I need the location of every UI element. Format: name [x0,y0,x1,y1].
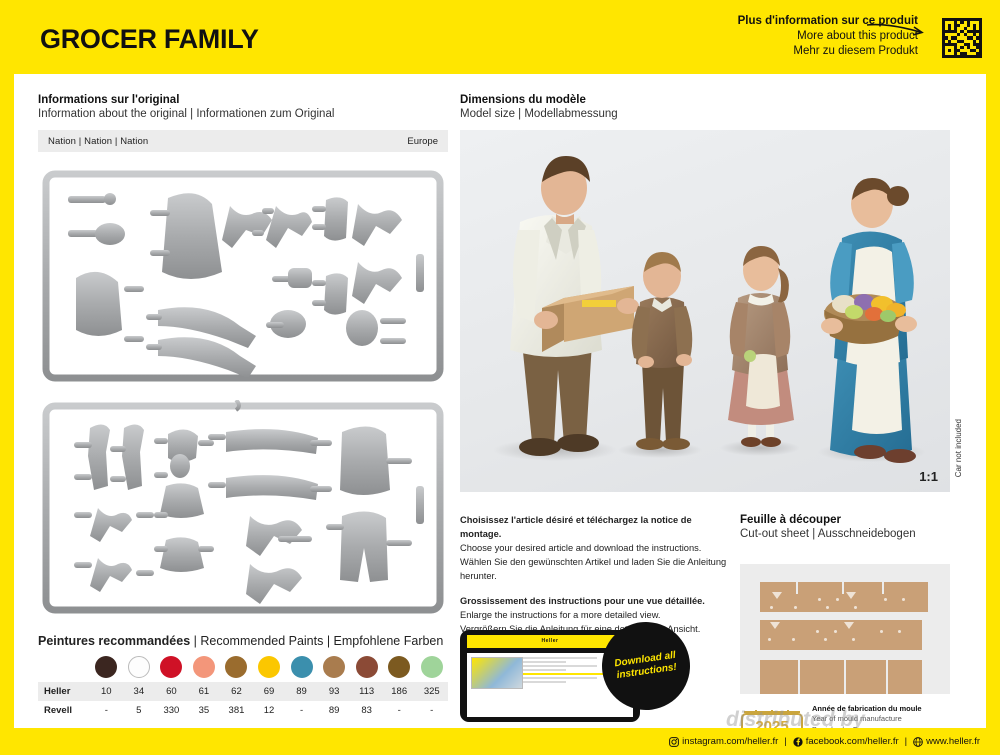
car-not-included-note: Car not included [954,419,963,477]
website-label: www.heller.fr [926,736,980,747]
paint-code-cell: 35 [188,705,221,716]
facebook-label: facebook.com/heller.fr [806,736,899,747]
paint-swatch [388,656,410,678]
paint-row-heller: Heller 1034606162698993113186325 [38,682,448,701]
paint-swatch [160,656,182,678]
cutout-heading-fr: Feuille à découper [740,514,916,526]
paint-code-cell: 69 [253,686,286,697]
mould-year-en: Year of mould manufacture [812,714,922,724]
original-info-heading-en-de: Information about the original | Informa… [38,108,334,120]
qr-line-de: Mehr zu diesem Produkt [738,44,918,59]
curved-arrow-icon [866,22,926,38]
paint-code-cell: 62 [220,686,253,697]
nation-value: Europe [407,136,438,147]
paint-brand-revell: Revell [38,705,90,716]
paint-code-cell: 89 [285,686,318,697]
instr1-en: Choose your desired article and download… [460,542,735,556]
paint-code-cell: 5 [123,705,156,716]
page-title: GROCER FAMILY [40,24,259,55]
model-figures-image: 1:1 [460,130,950,492]
paint-swatch [323,656,345,678]
paint-values-heller: 1034606162698993113186325 [90,686,448,697]
paint-code-cell: - [383,705,416,716]
qr-info-block: Plus d'information sur ce produit More a… [642,14,982,64]
paint-brand-heller: Heller [38,686,90,697]
paints-heading: Peintures recommandées | Recommended Pai… [38,634,443,648]
paint-code-cell: 12 [253,705,286,716]
model-size-heading-fr: Dimensions du modèle [460,94,618,106]
instagram-icon [669,737,679,747]
facebook-icon [793,737,803,747]
paints-heading-en-de: Recommended Paints | Empfohlene Farben [200,634,443,648]
cutout-strip [760,660,922,694]
paint-swatch [225,656,247,678]
paint-code-cell: 186 [383,686,416,697]
instr2-en: Enlarge the instructions for a more deta… [460,609,735,623]
cutout-heading: Feuille à découper Cut-out sheet | Aussc… [740,514,916,540]
footer-bar: instagram.com/heller.fr | facebook.com/h… [0,728,1000,755]
website-link[interactable]: www.heller.fr [913,736,980,747]
paint-code-cell: - [415,705,448,716]
paint-code-cell: 34 [123,686,156,697]
paint-swatch [193,656,215,678]
scale-label: 1:1 [919,469,938,484]
instr1-de: Wählen Sie den gewünschten Artikel und l… [460,556,735,584]
paint-code-cell: 381 [220,705,253,716]
original-info-heading-fr: Informations sur l'original [38,94,334,106]
paint-code-cell: 93 [318,686,351,697]
paint-code-cell: 83 [350,705,383,716]
instructions-text-block: Choisissez l'article désiré et télécharg… [460,514,735,637]
cutout-strip [760,582,928,612]
instagram-label: instagram.com/heller.fr [682,736,778,747]
paint-code-cell: 60 [155,686,188,697]
globe-icon [913,737,923,747]
header-bar: GROCER FAMILY Plus d'information sur ce … [0,0,1000,74]
paint-code-table: Heller 1034606162698993113186325 Revell … [38,682,448,720]
content-sheet: Informations sur l'original Information … [14,74,986,728]
paint-color-swatches [38,656,448,682]
nation-table-row: Nation | Nation | Nation Europe [38,130,448,152]
paint-code-cell: 325 [415,686,448,697]
footer-separator: | [784,736,786,747]
paint-code-cell: 113 [350,686,383,697]
paint-swatch [128,656,150,678]
cutout-strip [760,620,922,650]
cutout-heading-en-de: Cut-out sheet | Ausschneidebogen [740,528,916,540]
sprue-frame-b [40,400,446,616]
original-info-heading: Informations sur l'original Information … [38,94,334,120]
grocer-family-illustration [460,130,950,492]
mould-year-fr: Année de fabrication du moule [812,704,922,714]
facebook-link[interactable]: facebook.com/heller.fr [793,736,899,747]
paint-code-cell: 89 [318,705,351,716]
paint-values-revell: -53303538112-8983-- [90,705,448,716]
paints-heading-fr: Peintures recommandées [38,634,190,648]
qr-code-icon[interactable] [942,18,982,58]
paint-swatch [95,656,117,678]
paint-swatch [291,656,313,678]
paint-code-cell: - [90,705,123,716]
product-thumbnail [471,657,523,689]
instr1-fr: Choisissez l'article désiré et télécharg… [460,514,735,542]
footer-separator: | [905,736,907,747]
nation-label: Nation | Nation | Nation [48,136,148,147]
paint-code-cell: 10 [90,686,123,697]
paint-swatch [258,656,280,678]
heller-logo: Heller [542,638,559,644]
paint-code-cell: 61 [188,686,221,697]
paint-code-cell: - [285,705,318,716]
instagram-link[interactable]: instagram.com/heller.fr [669,736,778,747]
product-back-cover: GROCER FAMILY Plus d'information sur ce … [0,0,1000,755]
model-size-heading: Dimensions du modèle Model size | Modell… [460,94,618,120]
paint-swatch [356,656,378,678]
paint-code-cell: 330 [155,705,188,716]
model-size-heading-en-de: Model size | Modellabmessung [460,108,618,120]
instr2-fr: Grossissement des instructions pour une … [460,595,735,609]
cutout-sheet-preview [740,564,950,694]
paint-swatch [421,656,443,678]
paint-row-revell: Revell -53303538112-8983-- [38,701,448,720]
sprue-frame-a [40,168,446,384]
